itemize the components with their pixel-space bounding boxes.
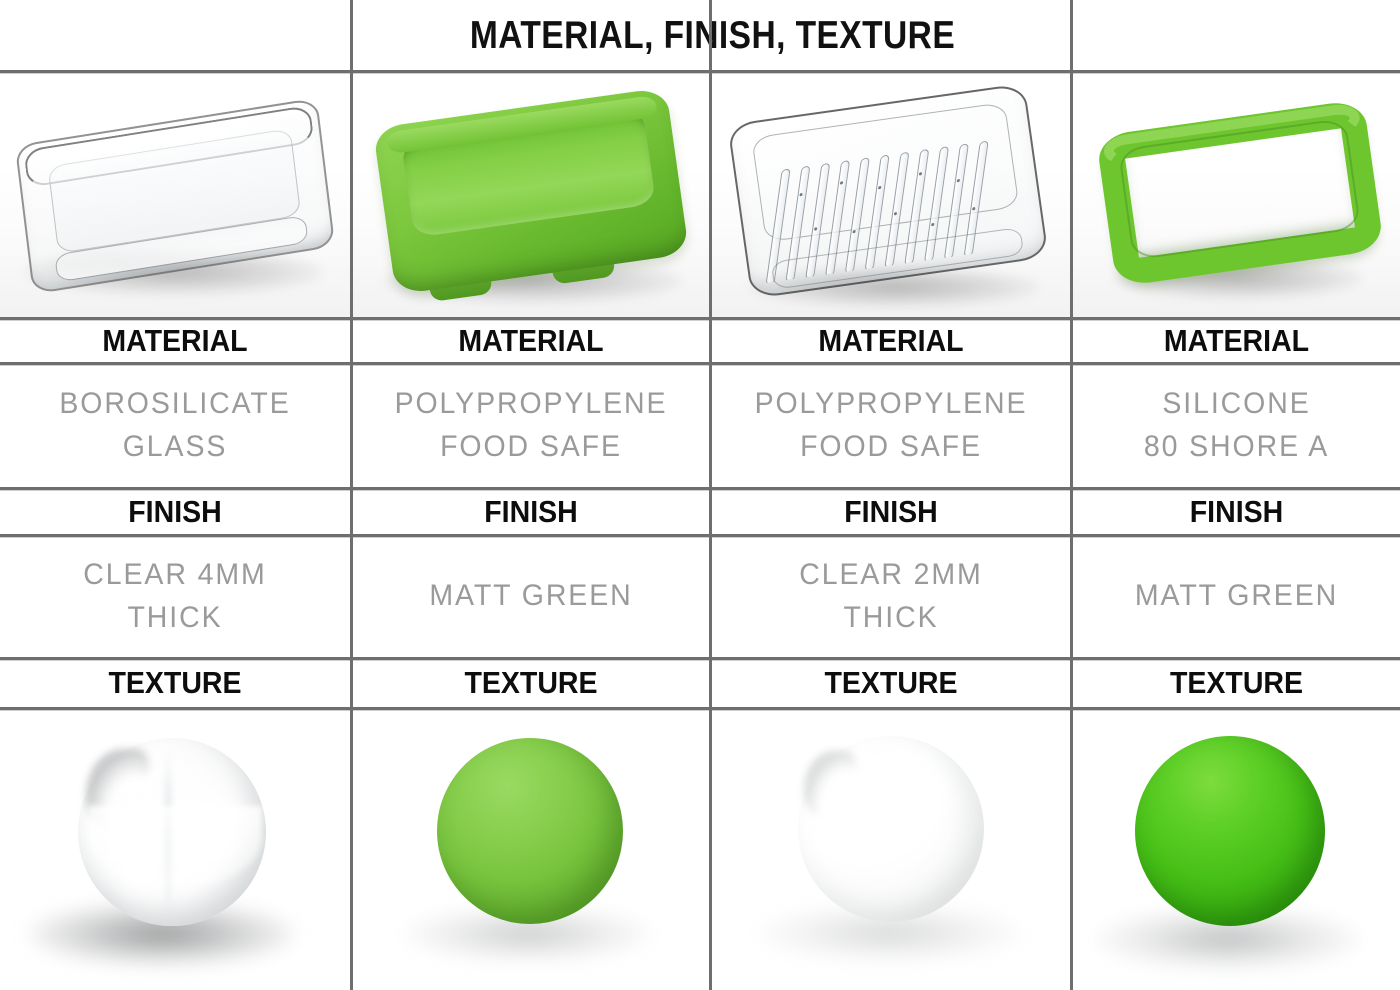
finish-value-col2: MATT GREEN <box>362 536 700 657</box>
texture-swatch-col3 <box>712 710 1070 990</box>
sphere-dark-reflection <box>86 749 150 828</box>
material-header-col2: MATERIAL <box>367 319 695 362</box>
material-value-col3: POLYPROPYLENE FOOD SAFE <box>721 364 1061 487</box>
product-image-green-polypropylene-tray <box>353 73 709 317</box>
texture-header-col4: TEXTURE <box>1086 659 1387 707</box>
texture-swatch-col1 <box>0 710 350 990</box>
finish-value-col1: CLEAR 4MM THICK <box>9 536 342 657</box>
material-value-col2: POLYPROPYLENE FOOD SAFE <box>362 364 700 487</box>
material-value-col4: SILICONE 80 SHORE A <box>1081 364 1392 487</box>
product-image-green-silicone-ring <box>1073 73 1400 317</box>
finish-header-col2: FINISH <box>367 490 695 534</box>
title-row: MATERIAL, FINISH, TEXTURE <box>0 0 1400 72</box>
sphere-dark-reflection <box>804 751 856 818</box>
clear-glass-sphere <box>78 738 266 926</box>
sphere-reflection-band <box>164 749 172 914</box>
finish-value-col4: MATT GREEN <box>1081 536 1392 657</box>
material-value-col1: BOROSILICATE GLASS <box>9 364 342 487</box>
product-image-borosilicate-glass-dish <box>0 73 350 317</box>
finish-value-col3: CLEAR 2MM THICK <box>721 536 1061 657</box>
matt-green-sphere <box>437 738 623 924</box>
material-header-col3: MATERIAL <box>726 319 1055 362</box>
texture-swatch-col2 <box>353 710 709 990</box>
finish-header-col3: FINISH <box>726 490 1055 534</box>
material-finish-texture-board: MATERIAL, FINISH, TEXTURE <box>0 0 1400 990</box>
texture-swatch-col4 <box>1073 710 1400 990</box>
finish-header-col1: FINISH <box>14 490 336 534</box>
clear-white-glossy-sphere <box>798 736 984 922</box>
texture-header-col1: TEXTURE <box>14 659 336 707</box>
texture-header-col3: TEXTURE <box>726 659 1055 707</box>
bright-green-matt-sphere <box>1135 736 1325 926</box>
finish-header-col4: FINISH <box>1086 490 1387 534</box>
page-title: MATERIAL, FINISH, TEXTURE <box>403 0 1021 72</box>
material-header-col4: MATERIAL <box>1086 319 1387 362</box>
material-header-col1: MATERIAL <box>14 319 336 362</box>
texture-header-col2: TEXTURE <box>367 659 695 707</box>
product-image-clear-polypropylene-draining-tray <box>712 73 1070 317</box>
